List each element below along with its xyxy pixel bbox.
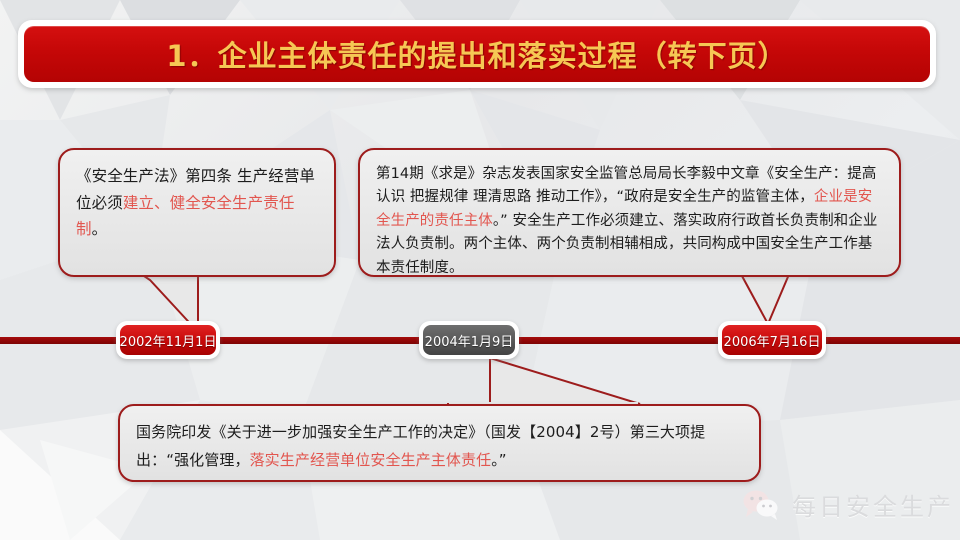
callout-decision-2004-highlight: 落实生产经营单位安全生产主体责任 <box>250 451 492 469</box>
callout-decision-2004: 国务院印发《关于进一步加强安全生产工作的决定》（国发【2004】2号）第三大项提… <box>118 404 761 482</box>
timeline-badge-2006[interactable]: 2006年7月16日 <box>718 321 826 359</box>
timeline-badge-2006-pill: 2006年7月16日 <box>722 325 822 355</box>
callout-decision-2004-text: 国务院印发《关于进一步加强安全生产工作的决定》（国发【2004】2号）第三大项提… <box>136 419 743 475</box>
wechat-icon <box>742 489 782 521</box>
timeline-badge-2004-pill: 2004年1月9日 <box>423 325 515 355</box>
watermark: 每日安全生产 <box>742 487 954 522</box>
callout-law-2002: 《安全生产法》第四条 生产经营单位必须建立、健全安全生产责任制。 <box>58 148 336 277</box>
callout-article-2006-lead: 第14期《求是》杂志发表国家安全监管总局局长李毅中文章《安全生产：提高认识 把握… <box>376 166 876 205</box>
timeline-badge-2004[interactable]: 2004年1月9日 <box>419 321 519 359</box>
slide-canvas: 1．企业主体责任的提出和落实过程（转下页） 《安全生产法》第四条 生产经营单位必… <box>0 0 960 540</box>
callout-article-2006: 第14期《求是》杂志发表国家安全监管总局局长李毅中文章《安全生产：提高认识 把握… <box>358 148 901 277</box>
callout-article-2006-text: 第14期《求是》杂志发表国家安全监管总局局长李毅中文章《安全生产：提高认识 把握… <box>376 163 883 280</box>
timeline-badge-2002-pill: 2002年11月1日 <box>120 325 216 355</box>
callout-law-2002-text: 《安全生产法》第四条 生产经营单位必须建立、健全安全生产责任制。 <box>76 163 318 243</box>
timeline-badge-2002[interactable]: 2002年11月1日 <box>116 321 220 359</box>
callout-decision-2004-tail: 。” <box>491 451 506 469</box>
watermark-label: 每日安全生产 <box>792 487 954 522</box>
callout-law-2002-tail: 。 <box>92 220 108 238</box>
